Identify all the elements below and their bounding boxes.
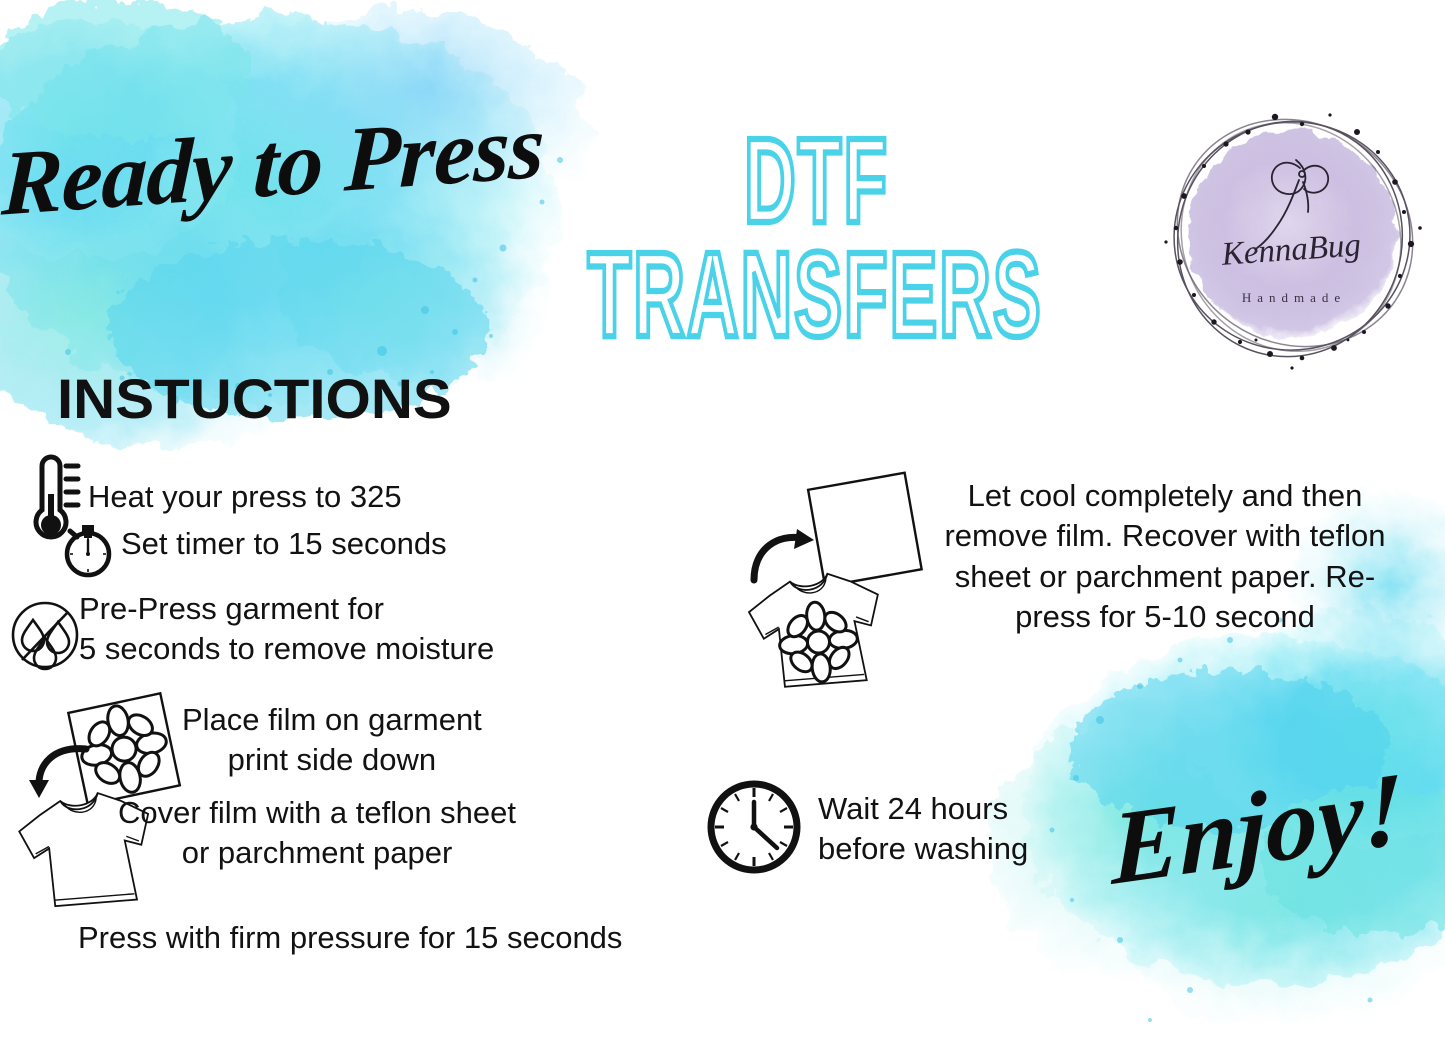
- instruction-text-heat: Heat your press to 325: [88, 477, 402, 517]
- instruction-text-prepress: Pre-Press garment for 5 seconds to remov…: [79, 589, 494, 670]
- instruction-text-press: Press with firm pressure for 15 seconds: [78, 918, 622, 958]
- instruction-text-place: Place film on garment print side down: [182, 700, 482, 781]
- script-title-text: Ready to Press: [0, 95, 545, 235]
- instruction-text-wait: Wait 24 hours before washing: [818, 789, 1028, 870]
- enjoy-label: Enjoy!: [1111, 750, 1404, 908]
- logo-tagline: Handmade: [1242, 290, 1346, 305]
- clock-icon: [703, 776, 805, 878]
- instructions-heading: INSTUCTIONS: [57, 366, 452, 431]
- arrow-up-right-icon: [754, 529, 814, 580]
- instruction-text-cover: Cover film with a teflon sheet or parchm…: [118, 793, 516, 874]
- no-moisture-icon: [8, 598, 82, 672]
- enjoy-text: Enjoy!: [1120, 778, 1420, 928]
- product-title-line1: DTF: [523, 126, 1109, 237]
- dtf-instruction-card: Ready to Press DTF TRANSFERS INSTUCTIONS: [0, 0, 1445, 1061]
- brand-logo: KennaBug Handmade: [1152, 96, 1432, 376]
- instruction-text-timer: Set timer to 15 seconds: [121, 524, 447, 564]
- shirt-to-film-icon: [738, 472, 933, 697]
- instruction-text-let-cool: Let cool completely and then remove film…: [935, 476, 1395, 637]
- stopwatch-icon: [57, 513, 119, 579]
- product-title-line2: TRANSFERS: [521, 240, 1110, 351]
- product-title: DTF TRANSFERS: [495, 126, 1135, 372]
